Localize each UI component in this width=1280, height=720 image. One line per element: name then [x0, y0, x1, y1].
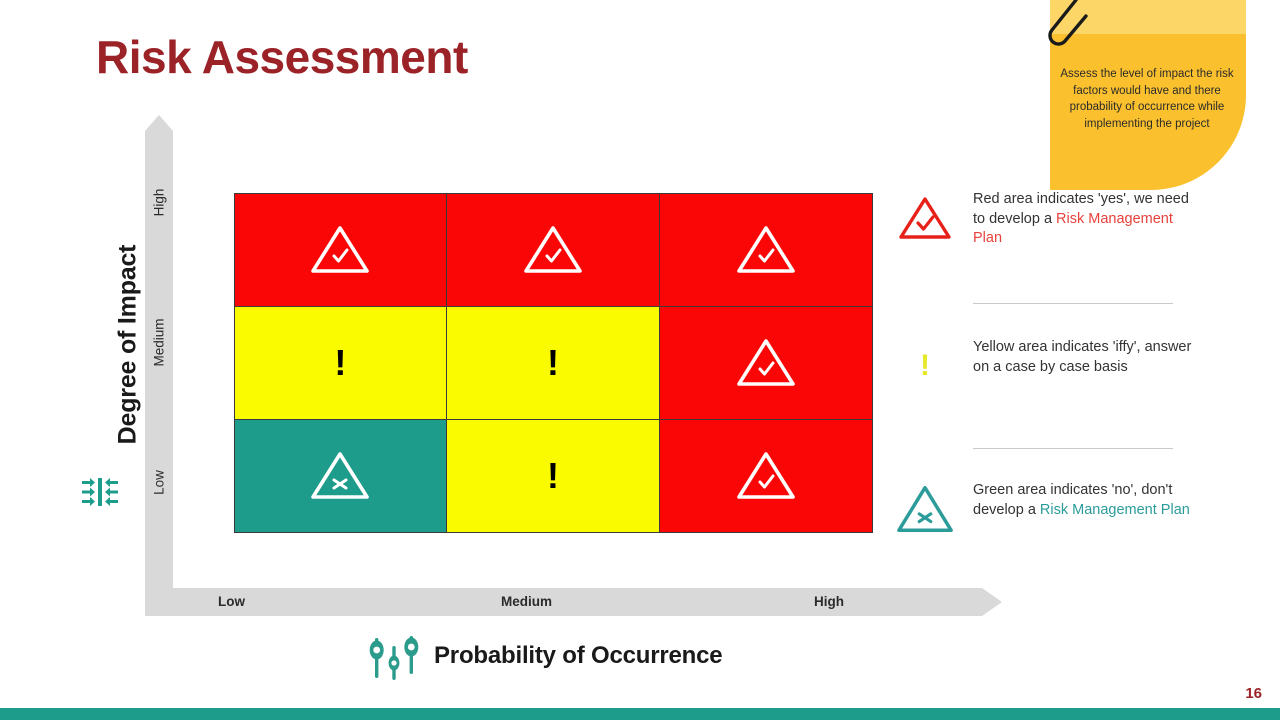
legend-separator: [973, 303, 1173, 304]
sticky-note-text: Assess the level of impact the risk fact…: [1060, 66, 1234, 132]
footer-bar: [0, 708, 1280, 720]
page-title: Risk Assessment: [96, 30, 468, 84]
matrix-cell-low-high[interactable]: [659, 419, 873, 533]
matrix-cell-low-low[interactable]: [234, 419, 448, 533]
x-axis-title: Probability of Occurrence: [434, 642, 722, 670]
warning-triangle-check-icon: [735, 337, 797, 389]
exclamation-glyph: !: [547, 345, 559, 381]
legend-text-green-accent: Risk Management Plan: [1040, 502, 1190, 518]
matrix-cell-low-medium[interactable]: !: [446, 419, 660, 533]
page-number: 16: [1245, 685, 1262, 702]
warning-triangle-check-icon: [309, 224, 371, 276]
exclamation-glyph: !: [547, 458, 559, 494]
legend-separator: [973, 448, 1173, 449]
slider-equalizer-icon: [368, 636, 422, 680]
y-axis-tick-medium: Medium: [145, 345, 173, 360]
x-axis-tick-low: Low: [218, 594, 245, 609]
legend-text-yellow-plain: Yellow area indicates 'iffy', answer on …: [973, 339, 1191, 375]
matrix-cell-medium-high[interactable]: [659, 306, 873, 420]
matrix-cell-medium-medium[interactable]: !: [446, 306, 660, 420]
paperclip-icon: [1036, 0, 1092, 52]
exclamation-glyph: !: [920, 351, 930, 381]
exclamation-glyph: !: [334, 345, 346, 381]
legend-text-green: Green area indicates 'no', don't develop…: [973, 481, 1195, 520]
warning-triangle-cross-icon: [309, 450, 371, 502]
matrix-cell-high-high[interactable]: [659, 193, 873, 307]
x-axis-tick-medium: Medium: [501, 594, 552, 609]
warning-triangle-cross-icon: [895, 483, 955, 535]
risk-matrix-grid: !!!: [234, 193, 872, 532]
y-axis-tick-high: High: [145, 195, 173, 210]
matrix-cell-high-medium[interactable]: [446, 193, 660, 307]
converge-arrows-icon: [80, 472, 120, 512]
x-axis-tick-high: High: [814, 594, 844, 609]
y-axis-title: Degree of Impact: [114, 205, 143, 485]
matrix-cell-high-low[interactable]: [234, 193, 448, 307]
warning-triangle-check-icon: [735, 450, 797, 502]
warning-triangle-check-icon: [735, 224, 797, 276]
matrix-cell-medium-low[interactable]: !: [234, 306, 448, 420]
exclamation-icon: !: [895, 340, 955, 392]
y-axis-tick-low: Low: [145, 475, 173, 490]
legend-text-red: Red area indicates 'yes', we need to dev…: [973, 190, 1195, 249]
warning-triangle-check-icon: [895, 192, 955, 244]
warning-triangle-check-icon: [522, 224, 584, 276]
x-axis-arrow: [145, 588, 1002, 616]
legend-text-yellow: Yellow area indicates 'iffy', answer on …: [973, 338, 1195, 377]
